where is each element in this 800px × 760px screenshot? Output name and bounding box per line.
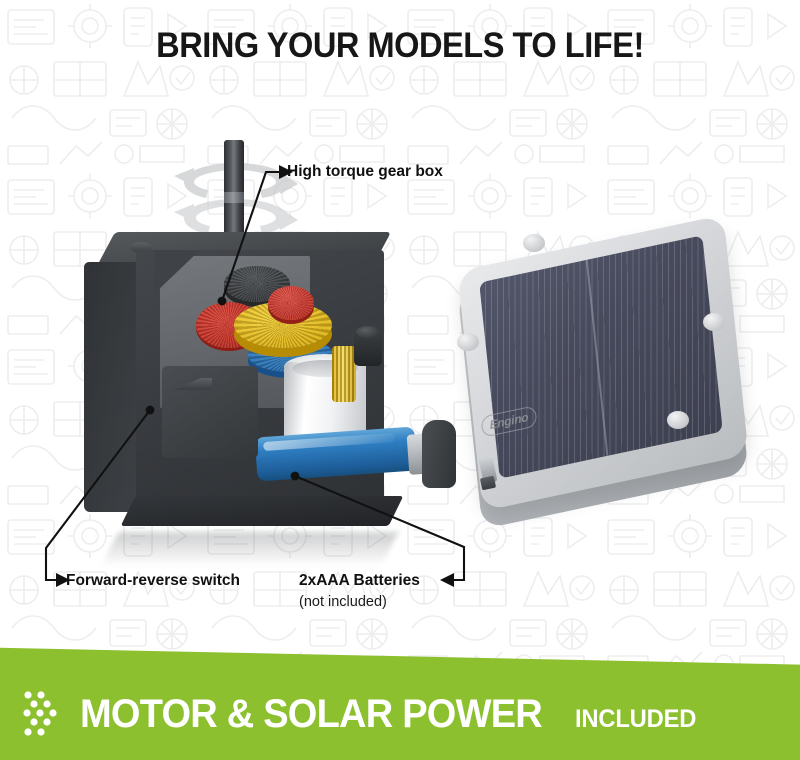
frame-peg bbox=[703, 313, 725, 331]
frame-peg bbox=[667, 411, 689, 429]
gearbox-housing bbox=[84, 248, 384, 528]
frame-peg bbox=[523, 234, 545, 252]
gearbox-unit bbox=[60, 140, 420, 560]
yellow-pinion bbox=[332, 346, 356, 402]
aaa-battery bbox=[255, 426, 418, 481]
housing-front-face bbox=[136, 250, 384, 518]
housing-base-plate bbox=[121, 496, 404, 526]
callout-switch-label: Forward-reverse switch bbox=[66, 572, 240, 590]
product-stage: Engino bbox=[0, 0, 800, 760]
red-gear-top bbox=[268, 286, 314, 320]
gearbox-reflection bbox=[102, 532, 399, 566]
callout-battery-sublabel: (not included) bbox=[299, 594, 387, 610]
footer-main-text: MOTOR & SOLAR POWER bbox=[80, 692, 542, 737]
callout-gearbox-label: High torque gear box bbox=[287, 163, 443, 181]
output-shaft-band bbox=[224, 192, 244, 203]
footer-sub-text: INCLUDED bbox=[575, 705, 696, 734]
housing-left-face bbox=[84, 262, 144, 512]
solar-panel-unit: Engino bbox=[445, 225, 785, 515]
page-title: BRING YOUR MODELS TO LIFE! bbox=[28, 26, 772, 66]
dot-chevron-icon bbox=[20, 687, 74, 741]
callout-battery-label: 2xAAA Batteries bbox=[299, 572, 420, 590]
top-knob-cap bbox=[356, 326, 380, 338]
frame-peg bbox=[457, 333, 479, 351]
